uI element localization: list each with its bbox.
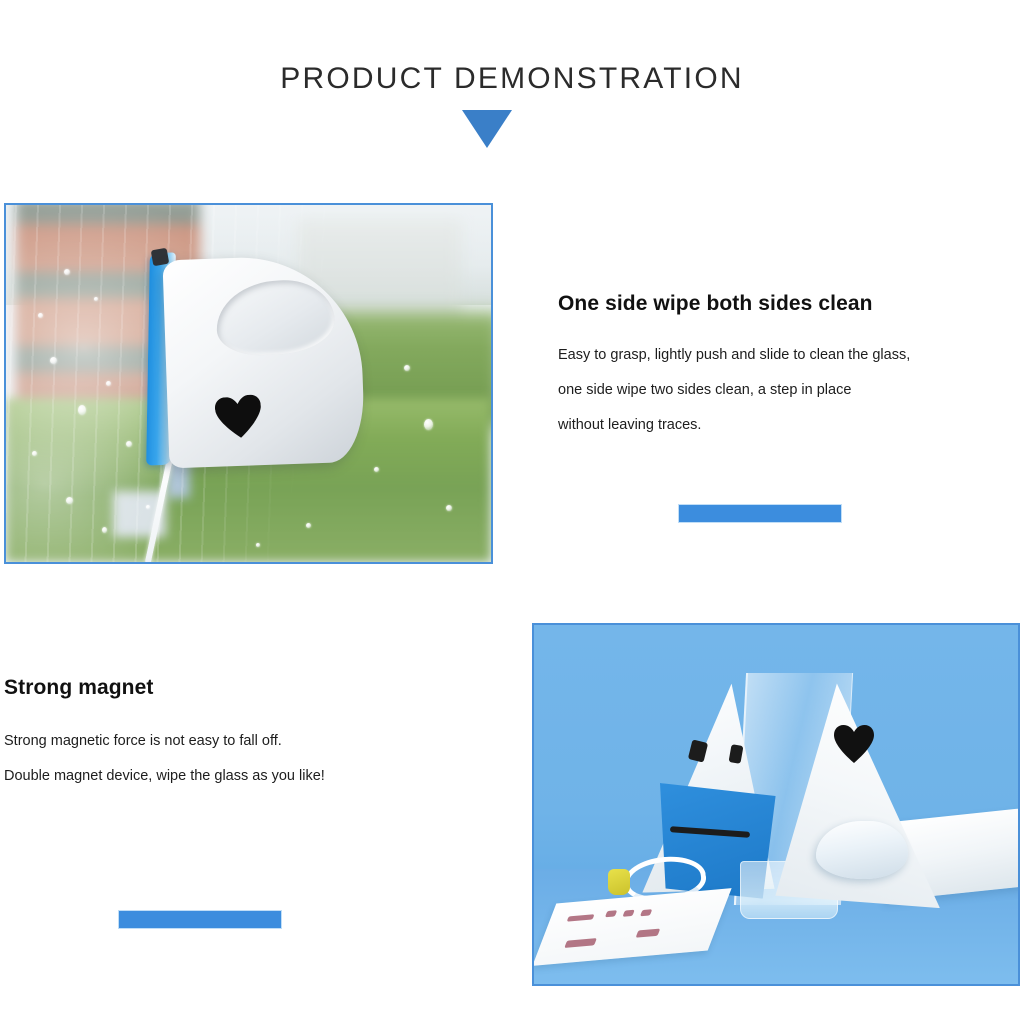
card-print-mark (636, 929, 661, 938)
card-print-mark (564, 938, 597, 948)
section-heading: Strong magnet (4, 676, 454, 700)
water-droplet (32, 451, 37, 456)
wiper-hand-grip (215, 279, 336, 357)
section-heading: One side wipe both sides clean (558, 292, 1010, 316)
water-droplet (424, 419, 433, 430)
card-print-mark (605, 910, 617, 917)
water-droplet (404, 365, 410, 371)
water-droplet (306, 523, 311, 528)
water-droplet (66, 497, 73, 504)
section-body: Easy to grasp, lightly push and slide to… (558, 338, 1010, 443)
section-one-side-wipe: One side wipe both sides clean Easy to g… (558, 292, 1010, 443)
section-strong-magnet: Strong magnet Strong magnetic force is n… (4, 676, 454, 794)
card-print-mark (567, 914, 595, 921)
page-title: PRODUCT DEMONSTRATION (0, 62, 1024, 96)
heart-logo-icon (214, 394, 264, 441)
double-magnet-wiper-studio-photo (532, 623, 1020, 986)
water-droplet (94, 297, 98, 301)
wiper-clip (151, 248, 170, 267)
right-wiper-hand-knob (816, 821, 908, 879)
water-droplet (38, 313, 43, 318)
body-line: Double magnet device, wipe the glass as … (4, 768, 325, 784)
accent-bar (119, 911, 281, 928)
water-droplet (446, 505, 452, 511)
water-droplet (78, 405, 86, 415)
accent-bar (679, 505, 841, 522)
water-droplet (374, 467, 379, 472)
triangle-down-icon (462, 110, 512, 148)
window-wiper-on-rainy-glass-photo (4, 203, 493, 564)
photo-window-scene (6, 205, 491, 562)
body-line: one side wipe two sides clean, a step in… (558, 382, 851, 398)
card-print-mark (640, 909, 652, 916)
body-line: without leaving traces. (558, 417, 701, 433)
water-droplet (146, 505, 150, 509)
body-line: Easy to grasp, lightly push and slide to… (558, 347, 910, 363)
water-droplet (50, 357, 57, 364)
water-droplet (106, 381, 111, 386)
card-print-mark (622, 910, 634, 917)
section-body: Strong magnetic force is not easy to fal… (4, 724, 454, 794)
photo-studio-scene (534, 625, 1018, 984)
water-droplet (102, 527, 107, 533)
body-line: Strong magnetic force is not easy to fal… (4, 733, 282, 749)
water-droplet (126, 441, 132, 447)
water-droplet (256, 543, 260, 547)
water-droplet (64, 269, 70, 275)
yellow-cord-stopper (608, 869, 630, 895)
